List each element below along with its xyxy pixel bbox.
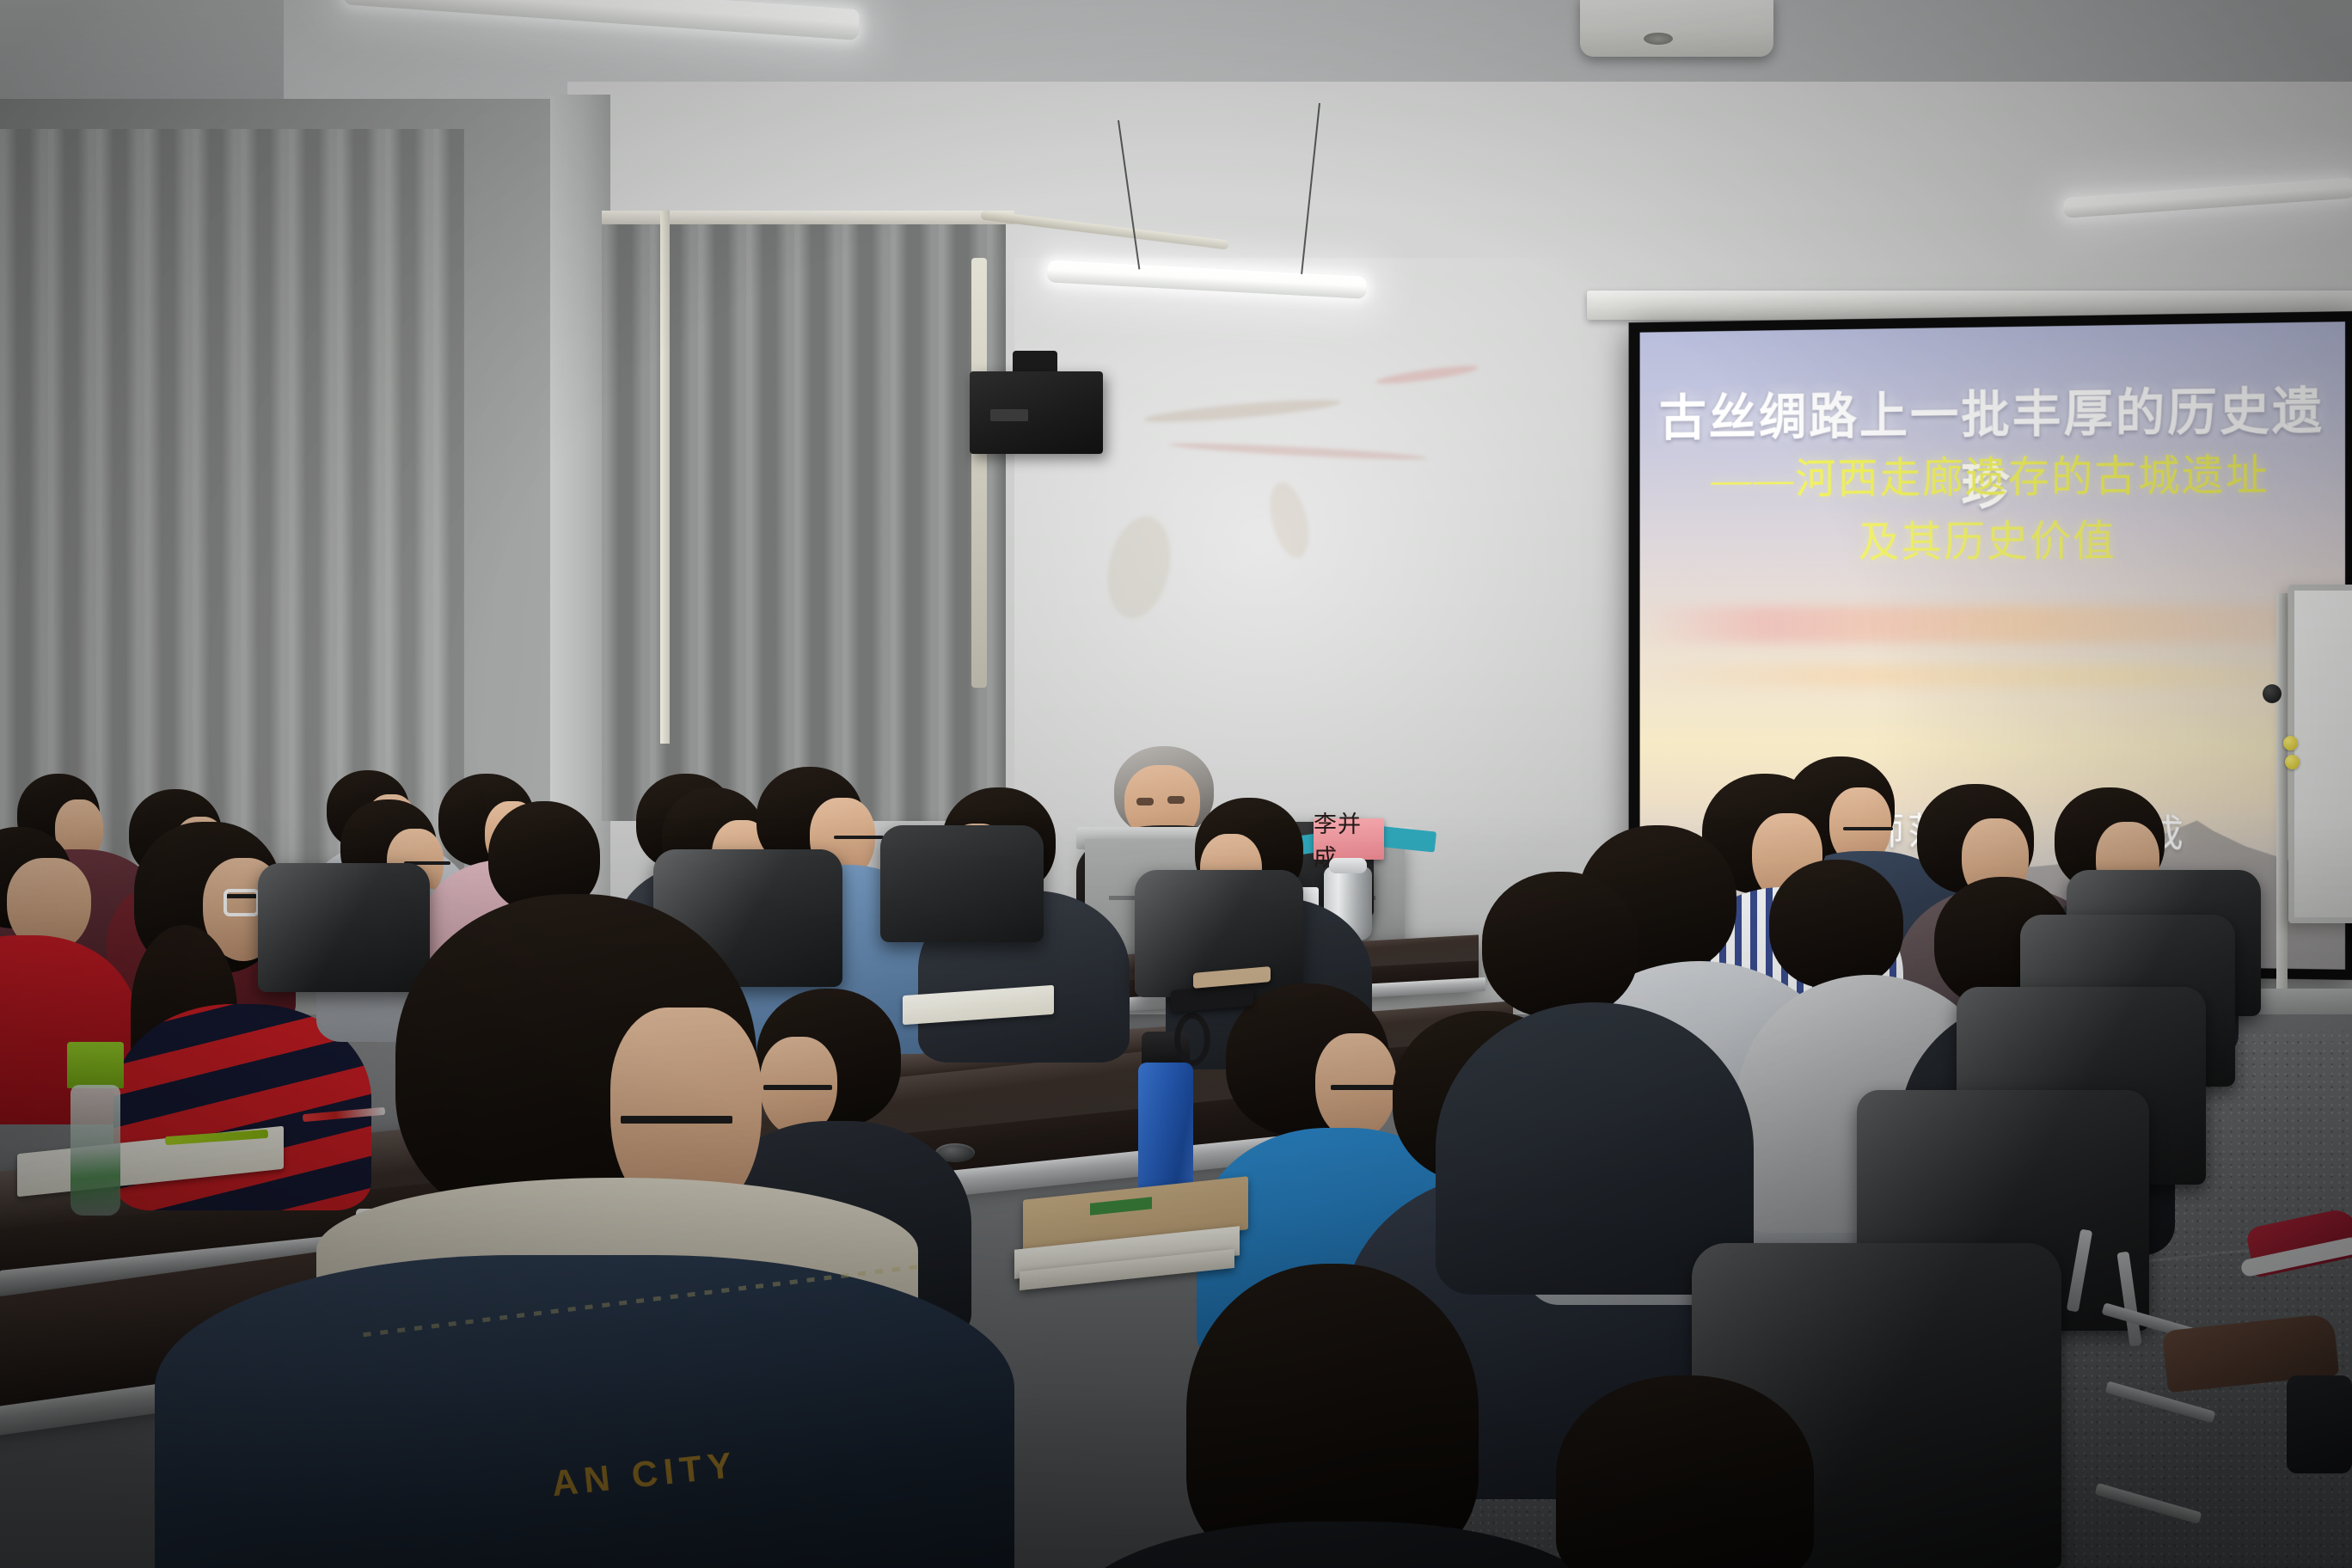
head bbox=[1769, 860, 1903, 989]
speaker-badge bbox=[990, 409, 1028, 421]
presenter-eye bbox=[1136, 798, 1154, 805]
trouser-leg bbox=[2287, 1375, 2352, 1473]
bottle-loop bbox=[1174, 1013, 1210, 1066]
glasses-lens bbox=[224, 889, 260, 916]
slide-subtitle-line2: 及其历史价值 bbox=[1640, 505, 2345, 570]
bottle-cap bbox=[67, 1042, 124, 1088]
glasses bbox=[763, 1085, 832, 1090]
curtain-rod-vertical bbox=[971, 258, 987, 688]
slide-cloud-band bbox=[1640, 605, 2345, 643]
glasses bbox=[1331, 1085, 1400, 1090]
ceiling-projector bbox=[1580, 0, 1773, 57]
glasses bbox=[1843, 827, 1893, 830]
whiteboard-knob[interactable] bbox=[2263, 684, 2282, 703]
head bbox=[1482, 872, 1638, 1018]
denim-jacket bbox=[155, 1255, 1014, 1568]
bottle-body bbox=[70, 1085, 120, 1216]
presenter-eye bbox=[1167, 796, 1185, 804]
chair[interactable] bbox=[880, 825, 1044, 942]
window-mullion bbox=[660, 211, 670, 744]
projector-lens bbox=[1644, 33, 1673, 45]
mobile-whiteboard bbox=[2288, 585, 2352, 923]
whiteboard-magnet[interactable] bbox=[2283, 736, 2298, 750]
chair[interactable] bbox=[258, 863, 430, 992]
glasses bbox=[834, 836, 884, 839]
slide-cloud-band bbox=[1640, 665, 2345, 688]
presenter-nameplate: 李并成 bbox=[1314, 818, 1384, 860]
thermos-lid[interactable] bbox=[1329, 858, 1367, 873]
glasses bbox=[621, 1116, 732, 1124]
head bbox=[1556, 1375, 1814, 1568]
lecture-room-photo: 古丝绸路上一批丰厚的历史遗珍 ——河西走廊遗存的古城遗址 及其历史价值 西北师范… bbox=[0, 0, 2352, 1568]
slide-subtitle-line1: ——河西走廊遗存的古城遗址 bbox=[1640, 440, 2345, 507]
whiteboard-magnet[interactable] bbox=[2285, 755, 2300, 769]
